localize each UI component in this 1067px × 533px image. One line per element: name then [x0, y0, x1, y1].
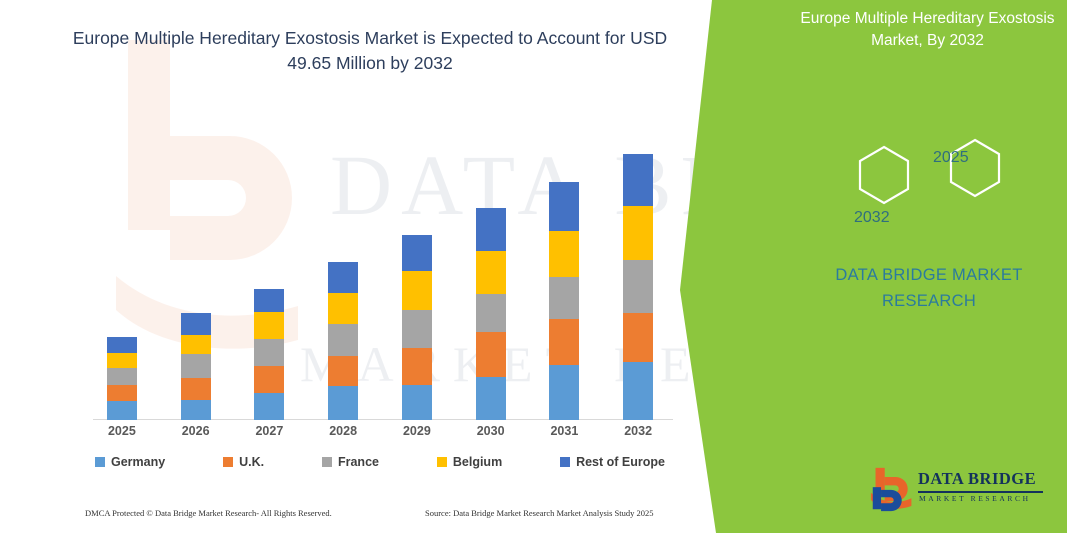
- legend-swatch-icon: [322, 457, 332, 467]
- bar-segment: [623, 362, 653, 420]
- bar-segment: [181, 378, 211, 400]
- x-axis-labels: 20252026202720282029203020312032: [85, 424, 675, 438]
- legend-item[interactable]: Germany: [95, 455, 165, 469]
- hexagon-shapes-icon: [820, 95, 1040, 220]
- bar-segment: [476, 332, 506, 376]
- bar-segment: [254, 312, 284, 340]
- bar-column: [313, 120, 373, 420]
- bar-segment: [107, 353, 137, 368]
- bar-segment: [549, 182, 579, 230]
- x-axis-tick-label: 2028: [313, 424, 373, 438]
- bar-segment: [107, 368, 137, 385]
- bar-group: [85, 120, 675, 420]
- bar-segment: [181, 313, 211, 335]
- bar-segment: [402, 271, 432, 310]
- bar-segment: [623, 206, 653, 261]
- bar-segment: [328, 386, 358, 420]
- hexagon-group: 2025 2032: [820, 95, 1040, 220]
- page-title: Europe Multiple Hereditary Exostosis Mar…: [70, 26, 670, 76]
- legend-item[interactable]: U.K.: [223, 455, 264, 469]
- legend-item[interactable]: Belgium: [437, 455, 502, 469]
- x-axis-tick-label: 2025: [92, 424, 152, 438]
- bar-stack: [181, 313, 211, 420]
- bar-segment: [623, 154, 653, 206]
- legend-label: France: [338, 455, 379, 469]
- footer-copyright: DMCA Protected © Data Bridge Market Rese…: [85, 508, 332, 518]
- bar-stack: [254, 289, 284, 420]
- bar-column: [166, 120, 226, 420]
- bar-segment: [181, 335, 211, 354]
- bar-segment: [476, 208, 506, 250]
- bar-segment: [107, 385, 137, 401]
- data-bridge-mark-icon: [870, 466, 916, 512]
- bar-segment: [254, 339, 284, 366]
- bar-segment: [107, 401, 137, 420]
- bar-segment: [254, 393, 284, 420]
- chart-legend: GermanyU.K.FranceBelgiumRest of Europe: [95, 455, 665, 469]
- bar-segment: [402, 235, 432, 271]
- bar-segment: [328, 324, 358, 355]
- panel-brand-text: DATA BRIDGE MARKET RESEARCH: [800, 262, 1058, 314]
- legend-item[interactable]: France: [322, 455, 379, 469]
- bar-segment: [402, 310, 432, 347]
- bar-segment: [623, 260, 653, 313]
- x-axis-tick-label: 2027: [239, 424, 299, 438]
- bar-segment: [476, 377, 506, 420]
- hexagon-label-2025: 2025: [933, 149, 969, 167]
- bar-segment: [181, 354, 211, 377]
- bar-segment: [402, 348, 432, 385]
- bar-segment: [549, 365, 579, 420]
- legend-swatch-icon: [560, 457, 570, 467]
- bar-stack: [107, 337, 137, 420]
- bar-stack: [549, 182, 579, 420]
- bar-segment: [254, 366, 284, 393]
- stacked-bar-chart: [85, 120, 675, 420]
- legend-label: U.K.: [239, 455, 264, 469]
- legend-label: Germany: [111, 455, 165, 469]
- bar-segment: [476, 294, 506, 332]
- bar-segment: [328, 262, 358, 293]
- bar-segment: [476, 251, 506, 294]
- bar-segment: [328, 356, 358, 386]
- bar-column: [387, 120, 447, 420]
- legend-swatch-icon: [223, 457, 233, 467]
- legend-swatch-icon: [95, 457, 105, 467]
- bar-column: [92, 120, 152, 420]
- legend-swatch-icon: [437, 457, 447, 467]
- x-axis-tick-label: 2032: [608, 424, 668, 438]
- bar-segment: [328, 293, 358, 324]
- x-axis-tick-label: 2030: [461, 424, 521, 438]
- x-axis-tick-label: 2029: [387, 424, 447, 438]
- infographic-root: DATA BRIDGE MARKET RESEARCH Europe Multi…: [0, 0, 1067, 533]
- bar-stack: [476, 208, 506, 420]
- bar-segment: [623, 313, 653, 363]
- data-bridge-logo: DATA BRIDGE MARKET RESEARCH: [870, 466, 1055, 514]
- bar-segment: [549, 319, 579, 364]
- bar-column: [608, 120, 668, 420]
- bar-segment: [402, 385, 432, 420]
- bar-column: [534, 120, 594, 420]
- bar-column: [461, 120, 521, 420]
- bar-segment: [254, 289, 284, 312]
- bar-column: [239, 120, 299, 420]
- logo-title: DATA BRIDGE: [918, 469, 1036, 489]
- legend-label: Belgium: [453, 455, 502, 469]
- bar-stack: [402, 235, 432, 420]
- panel-title: Europe Multiple Hereditary Exostosis Mar…: [800, 8, 1055, 52]
- hexagon-label-2032: 2032: [854, 209, 890, 227]
- legend-item[interactable]: Rest of Europe: [560, 455, 665, 469]
- bar-stack: [623, 154, 653, 420]
- x-axis-tick-label: 2026: [166, 424, 226, 438]
- bar-stack: [328, 262, 358, 420]
- bar-segment: [549, 231, 579, 277]
- logo-divider: [918, 491, 1043, 493]
- bar-segment: [549, 277, 579, 319]
- x-axis-tick-label: 2031: [534, 424, 594, 438]
- logo-subtitle: MARKET RESEARCH: [919, 494, 1031, 503]
- legend-label: Rest of Europe: [576, 455, 665, 469]
- bar-segment: [181, 400, 211, 420]
- bar-segment: [107, 337, 137, 352]
- footer-source: Source: Data Bridge Market Research Mark…: [425, 508, 654, 518]
